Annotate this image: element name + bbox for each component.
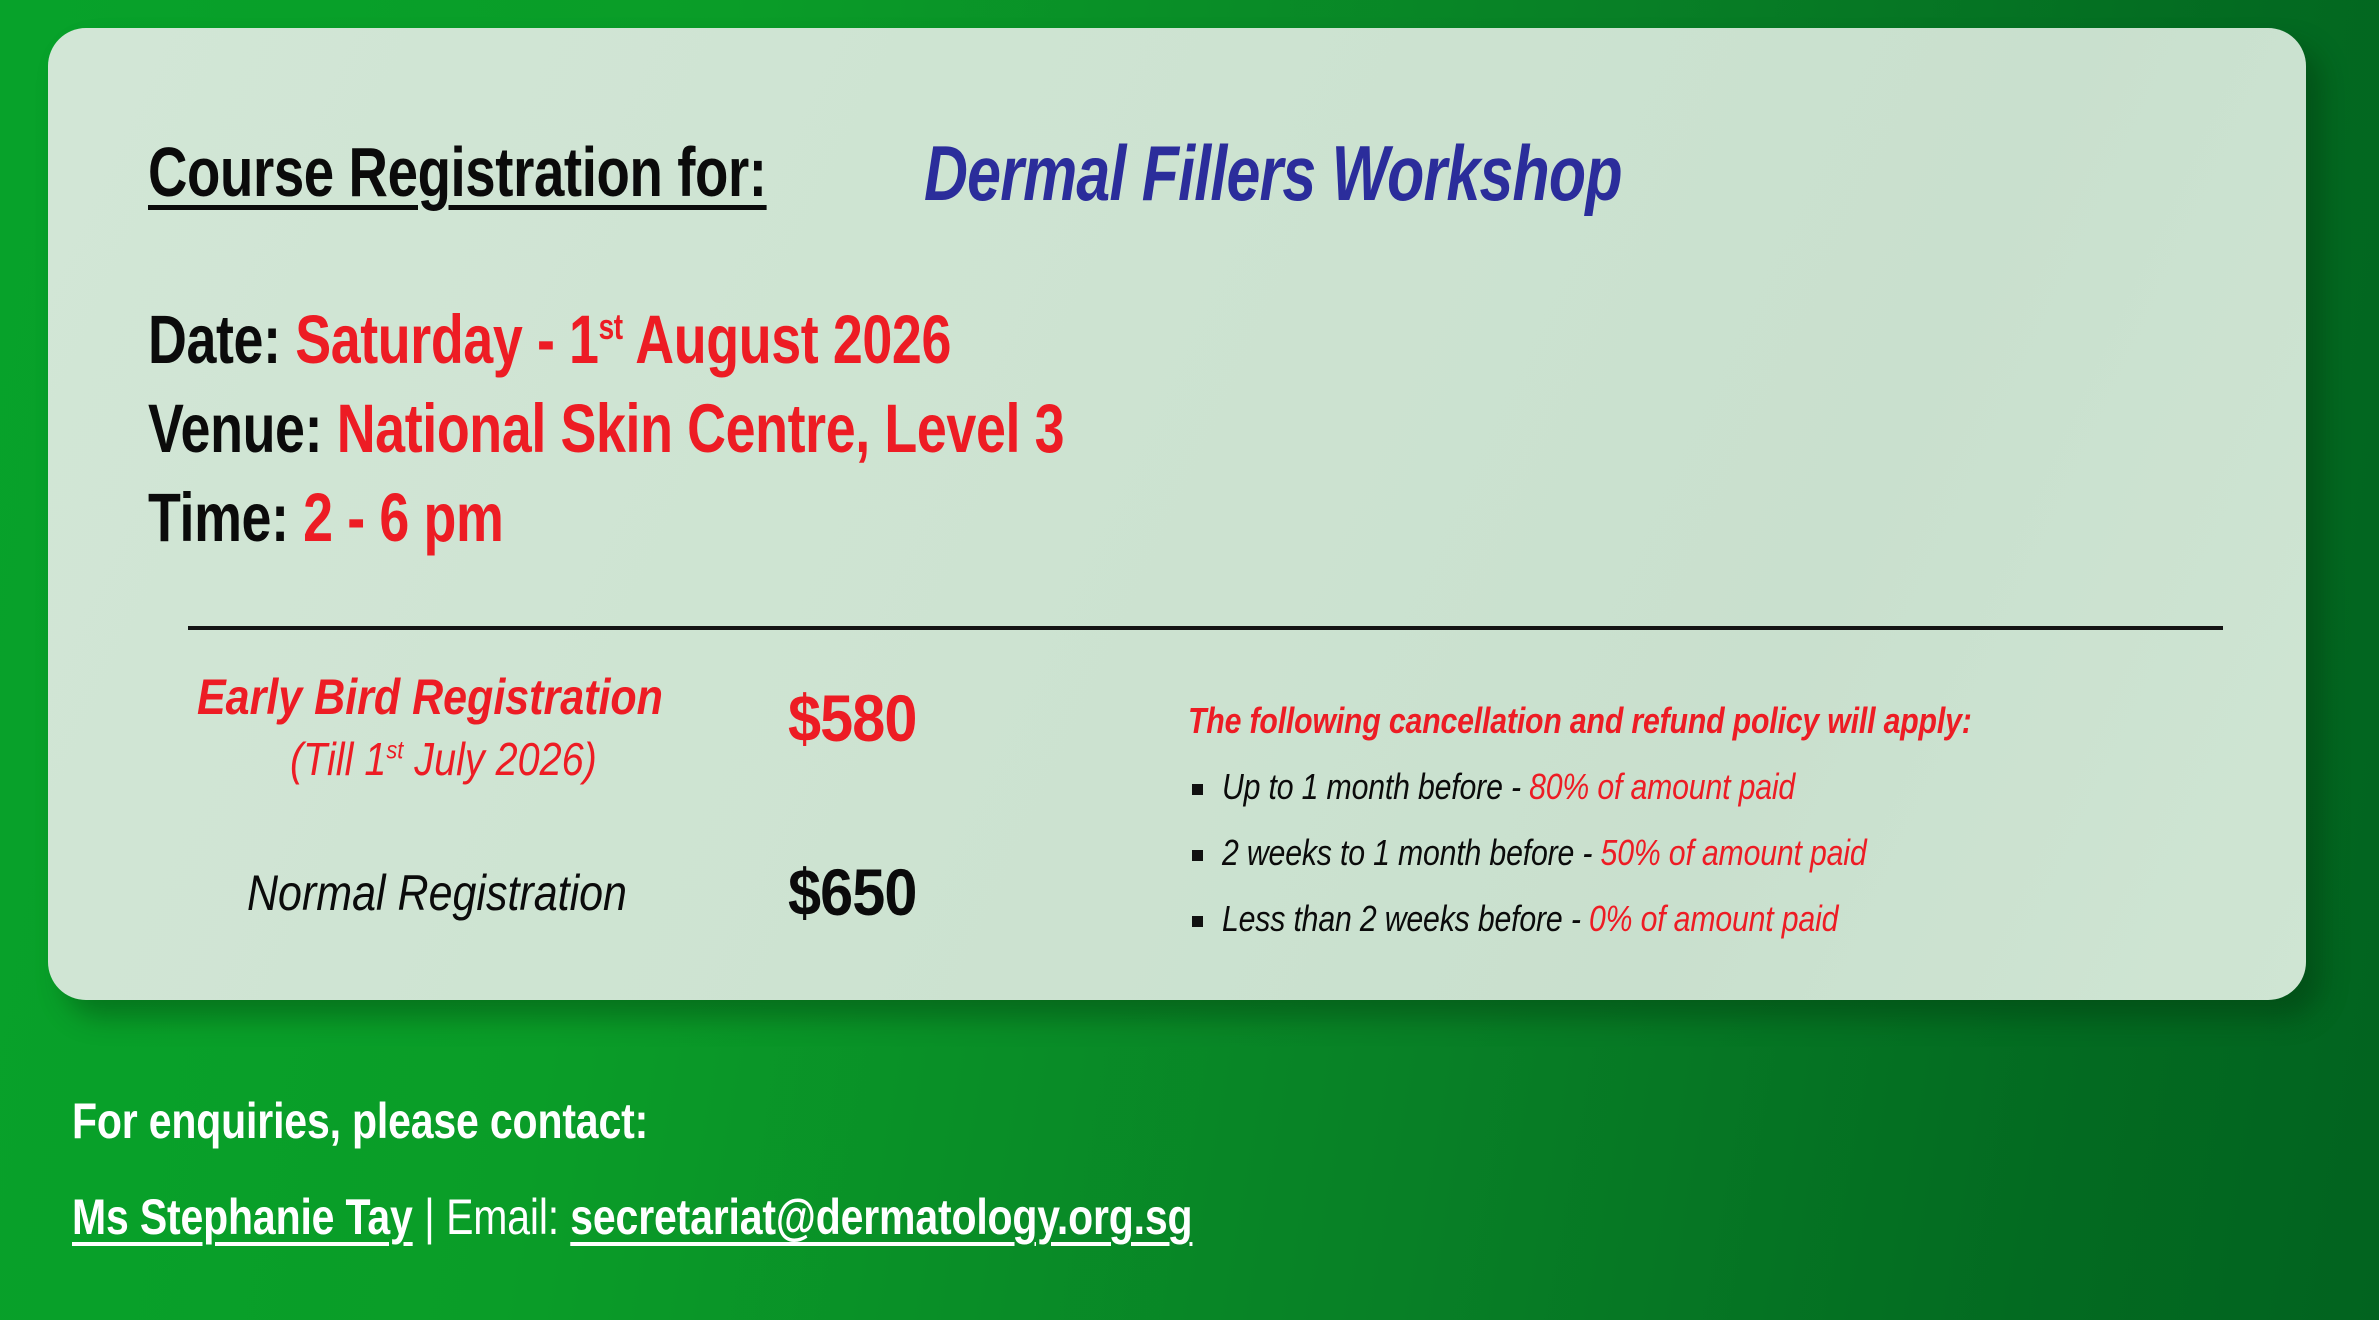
early-bird-label: Early Bird Registration [148,668,788,726]
policy-list-item-text: Up to 1 month before - 80% of amount pai… [1222,766,1795,808]
contact-details-line: Ms Stephanie Tay|Email: secretariat@derm… [72,1188,2272,1246]
policy-list-item-text: Less than 2 weeks before - 0% of amount … [1222,898,1838,940]
venue-label: Venue: [148,390,322,467]
refund-policy-title: The following cancellation and refund po… [1188,700,2268,742]
bullet-square-icon [1192,784,1203,795]
detail-row-time: Time: 2 - 6 pm [148,478,2148,567]
workshop-title-text: Dermal Fillers Workshop [924,128,1622,219]
policy-refund: 50% of amount paid [1601,832,1867,873]
contact-person-name: Ms Stephanie Tay [72,1189,413,1245]
policy-list-item-text: 2 weeks to 1 month before - 50% of amoun… [1222,832,1867,874]
registration-poster: Course Registration for: Dermal Fillers … [0,0,2379,1320]
refund-policy-title-text: The following cancellation and refund po… [1188,700,1972,742]
card-header: Course Registration for: Dermal Fillers … [148,132,2228,218]
detail-row-date: Date: Saturday - 1st August 2026 [148,300,2148,389]
date-value: Saturday - 1st August 2026 [295,301,951,378]
date-value-ordinal: st [599,307,623,347]
deadline-ordinal: st [386,737,403,765]
event-details: Date: Saturday - 1st August 2026 Venue: … [148,300,2148,567]
date-value-pre: Saturday - 1 [295,301,598,378]
time-value: 2 - 6 pm [303,479,503,556]
refund-policy: The following cancellation and refund po… [1188,700,2268,940]
early-bird-label-text: Early Bird Registration [197,668,663,726]
detail-row-date-text: Date: Saturday - 1st August 2026 [148,300,951,379]
detail-row-venue: Venue: National Skin Centre, Level 3 [148,389,2148,478]
bullet-square-icon [1192,916,1203,927]
early-bird-deadline: (Till 1st July 2026) [148,732,788,786]
policy-condition: Up to 1 month before - [1222,766,1529,807]
workshop-title: Dermal Fillers Workshop [924,128,1819,219]
normal-registration-price-text: $650 [788,854,917,930]
time-label: Time: [148,479,289,556]
normal-registration-label: Normal Registration [148,864,788,922]
policy-list-item: 2 weeks to 1 month before - 50% of amoun… [1188,832,2268,874]
contact-footer: For enquiries, please contact: Ms Stepha… [72,1092,2272,1246]
course-registration-label: Course Registration for: [148,132,941,212]
normal-registration-price: $650 [788,854,931,930]
enquiries-heading-text: For enquiries, please contact: [72,1092,648,1150]
detail-row-venue-text: Venue: National Skin Centre, Level 3 [148,389,1064,468]
policy-refund: 80% of amount paid [1529,766,1795,807]
deadline-pre: (Till 1 [290,733,386,785]
early-bird-price-text: $580 [788,680,917,756]
venue-value: National Skin Centre, Level 3 [337,390,1064,467]
early-bird-price: $580 [788,680,931,756]
contact-separator: | [413,1189,446,1245]
normal-registration-label-text: Normal Registration [247,864,627,922]
policy-list-item: Up to 1 month before - 80% of amount pai… [1188,766,2268,808]
deadline-post: July 2026) [403,733,597,785]
section-divider [188,626,2223,630]
contact-details-text: Ms Stephanie Tay|Email: secretariat@derm… [72,1188,1192,1246]
bullet-square-icon [1192,850,1203,861]
policy-condition: Less than 2 weeks before - [1222,898,1589,939]
early-bird-deadline-text: (Till 1st July 2026) [290,732,597,786]
email-label: Email: [446,1189,559,1245]
enquiries-heading: For enquiries, please contact: [72,1092,2272,1150]
registration-card: Course Registration for: Dermal Fillers … [48,28,2306,1000]
date-label: Date: [148,301,281,378]
detail-row-time-text: Time: 2 - 6 pm [148,478,503,557]
policy-condition: 2 weeks to 1 month before - [1222,832,1601,873]
policy-refund: 0% of amount paid [1589,898,1838,939]
policy-list-item: Less than 2 weeks before - 0% of amount … [1188,898,2268,940]
contact-email-link[interactable]: secretariat@dermatology.org.sg [570,1189,1192,1245]
date-value-post: August 2026 [623,301,951,378]
course-registration-label-text: Course Registration for: [148,132,767,212]
